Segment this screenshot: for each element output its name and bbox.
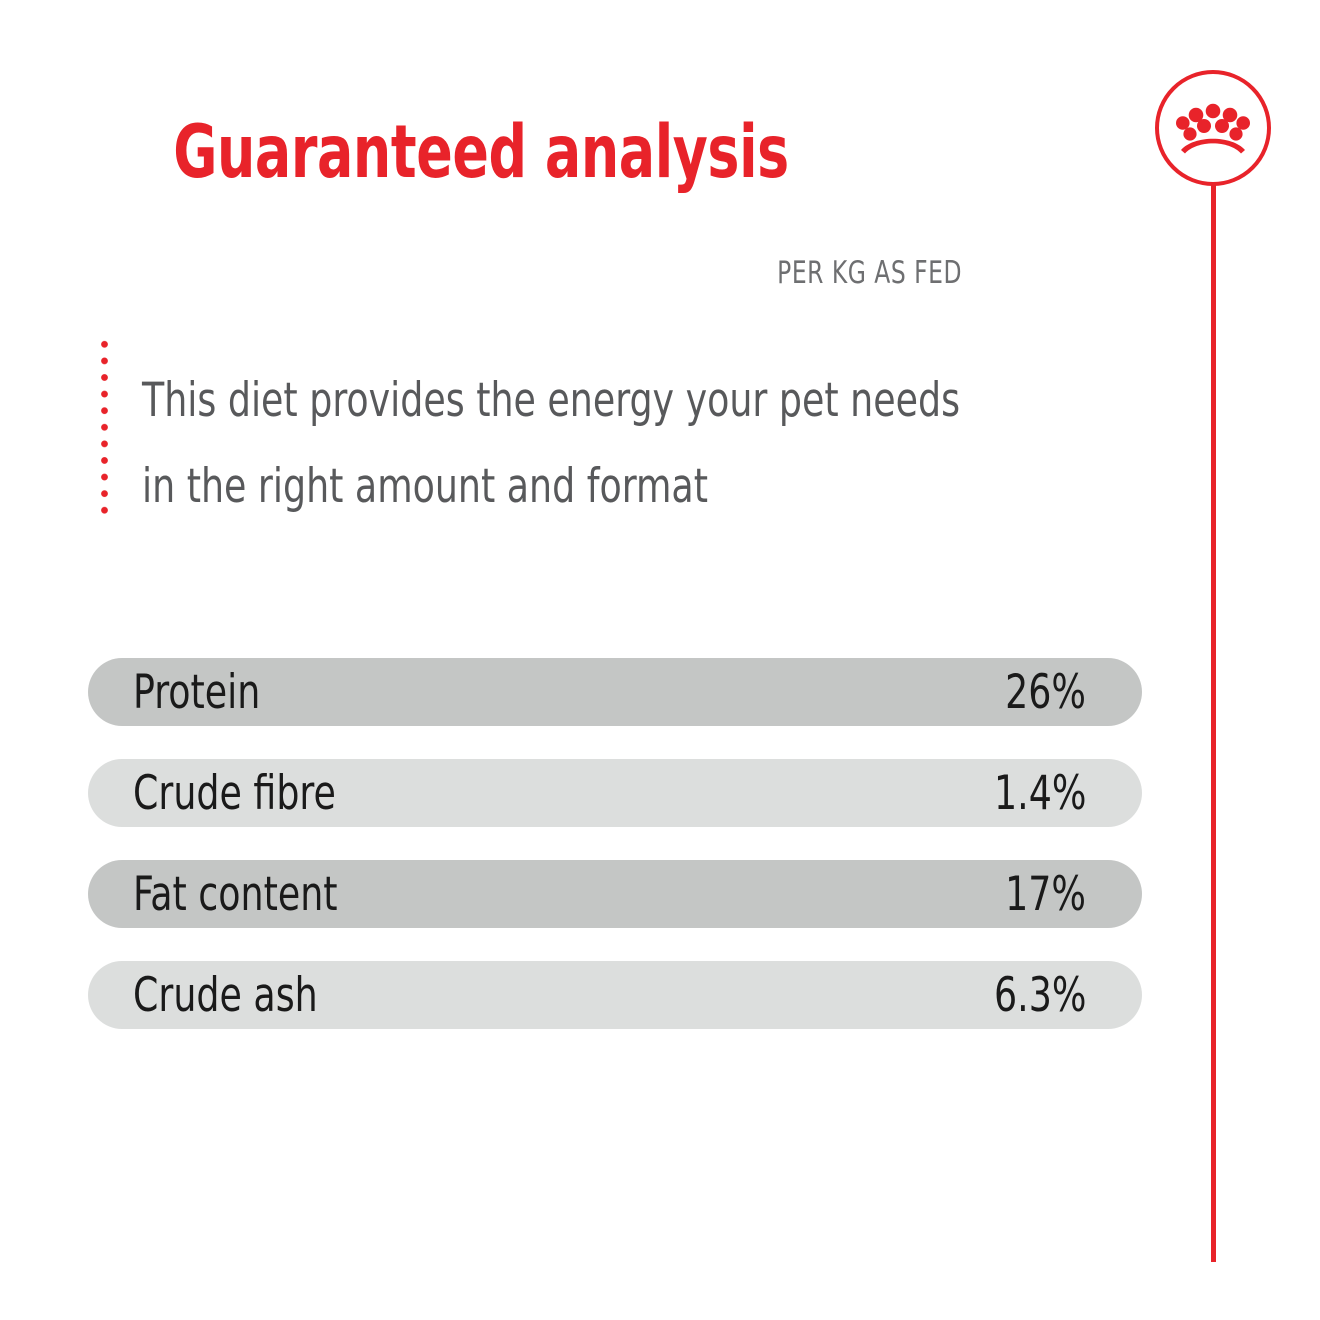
table-row: Crude ash 6.3% (88, 961, 1142, 1029)
intro-line-1: This diet provides the energy your pet n… (142, 358, 968, 444)
row-label: Crude ash (133, 972, 318, 1019)
table-row: Fat content 17% (88, 860, 1142, 928)
intro-line-2: in the right amount and format (142, 444, 968, 530)
crown-icon (1176, 102, 1250, 154)
page-title: Guaranteed analysis (87, 116, 876, 189)
analysis-table: Protein 26% Crude fibre 1.4% Fat content… (88, 658, 1142, 1029)
row-value: 26% (1005, 669, 1086, 716)
row-label: Protein (133, 669, 260, 716)
dotted-accent-rule (100, 336, 109, 518)
intro-text: This diet provides the energy your pet n… (142, 358, 968, 530)
page-subtitle: PER KG AS FED (154, 255, 962, 291)
row-value: 6.3% (994, 972, 1086, 1019)
row-label: Crude fibre (133, 770, 336, 817)
row-label: Fat content (133, 871, 338, 918)
guaranteed-analysis-page: Guaranteed analysis PER KG AS FED This d… (0, 0, 1320, 1320)
table-row: Crude fibre 1.4% (88, 759, 1142, 827)
royal-canin-logo (1155, 70, 1271, 186)
table-row: Protein 26% (88, 658, 1142, 726)
logo-stem-line (1211, 185, 1216, 1262)
row-value: 1.4% (994, 770, 1086, 817)
row-value: 17% (1005, 871, 1086, 918)
